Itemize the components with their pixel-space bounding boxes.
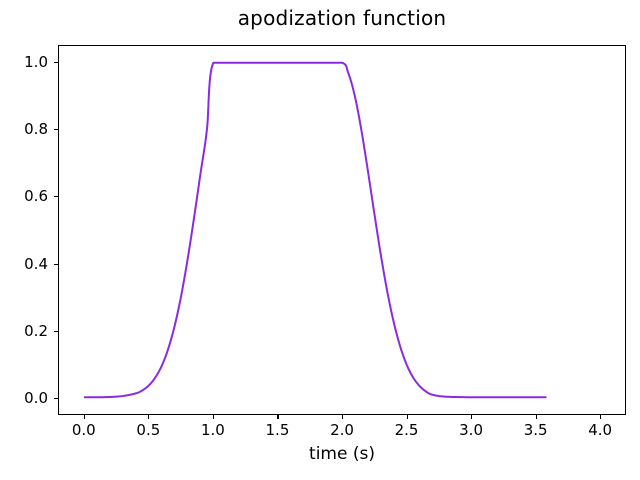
x-tick-label: 3.0 <box>441 421 501 439</box>
x-tick-label: 2.5 <box>377 421 437 439</box>
x-tick-label: 1.5 <box>247 421 307 439</box>
line-plot-canvas <box>59 46 625 414</box>
y-tick-mark <box>54 196 58 197</box>
x-tick-mark <box>148 415 149 419</box>
data-series-line <box>85 63 546 398</box>
x-tick-label: 0.5 <box>118 421 178 439</box>
x-tick-label: 2.0 <box>312 421 372 439</box>
x-tick-label: 0.0 <box>54 421 114 439</box>
x-tick-mark <box>471 415 472 419</box>
plot-axes <box>58 45 626 415</box>
x-tick-label: 3.5 <box>506 421 566 439</box>
x-tick-label: 1.0 <box>183 421 243 439</box>
y-tick-label: 0.8 <box>0 120 48 138</box>
chart-title: apodization function <box>22 6 640 30</box>
y-tick-mark <box>54 264 58 265</box>
y-tick-label: 1.0 <box>0 53 48 71</box>
x-axis-label: time (s) <box>58 444 626 465</box>
y-tick-label: 0.0 <box>0 389 48 407</box>
x-tick-label: 4.0 <box>570 421 630 439</box>
y-tick-label: 0.6 <box>0 187 48 205</box>
y-tick-label: 0.4 <box>0 255 48 273</box>
y-tick-label: 0.2 <box>0 322 48 340</box>
x-tick-mark <box>277 415 278 419</box>
x-tick-mark <box>600 415 601 419</box>
x-tick-mark <box>84 415 85 419</box>
y-tick-mark <box>54 398 58 399</box>
y-tick-mark <box>54 331 58 332</box>
x-tick-mark <box>342 415 343 419</box>
y-tick-mark <box>54 129 58 130</box>
x-tick-mark <box>213 415 214 419</box>
y-tick-mark <box>54 62 58 63</box>
x-tick-mark <box>407 415 408 419</box>
x-tick-mark <box>536 415 537 419</box>
matplotlib-figure: apodization function 0.00.51.01.52.02.53… <box>0 0 640 480</box>
